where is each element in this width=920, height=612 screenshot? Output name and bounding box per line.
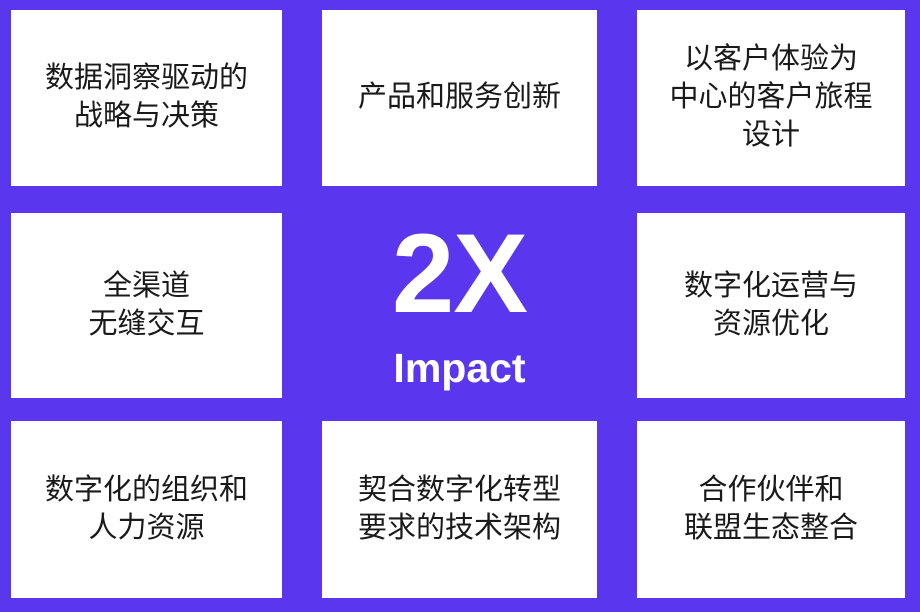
impact-grid-board: 数据洞察驱动的 战略与决策 产品和服务创新 以客户体验为 中心的客户旅程 设计 … bbox=[0, 0, 920, 612]
card-omnichannel-interaction: 全渠道 无缝交互 bbox=[11, 213, 282, 398]
card-digital-organization: 数字化的组织和 人力资源 bbox=[11, 421, 282, 598]
card-label: 全渠道 无缝交互 bbox=[82, 268, 210, 343]
impact-label: Impact bbox=[393, 348, 525, 389]
card-label: 契合数字化转型 要求的技术架构 bbox=[352, 472, 567, 547]
card-product-service-innovation: 产品和服务创新 bbox=[322, 10, 597, 186]
card-customer-journey-design: 以客户体验为 中心的客户旅程 设计 bbox=[637, 10, 905, 186]
card-partner-ecosystem: 合作伙伴和 联盟生态整合 bbox=[637, 421, 905, 598]
card-digital-operations: 数字化运营与 资源优化 bbox=[637, 213, 905, 398]
card-label: 数字化的组织和 人力资源 bbox=[39, 472, 254, 547]
card-label: 以客户体验为 中心的客户旅程 设计 bbox=[663, 41, 878, 154]
card-data-driven-strategy: 数据洞察驱动的 战略与决策 bbox=[11, 10, 282, 186]
card-label: 数字化运营与 资源优化 bbox=[678, 268, 864, 343]
card-label: 产品和服务创新 bbox=[352, 79, 567, 117]
card-label: 合作伙伴和 联盟生态整合 bbox=[678, 472, 864, 547]
card-tech-architecture: 契合数字化转型 要求的技术架构 bbox=[322, 421, 597, 598]
center-impact-highlight: 2X Impact bbox=[322, 213, 597, 398]
card-label: 数据洞察驱动的 战略与决策 bbox=[39, 60, 254, 135]
impact-multiplier-value: 2X bbox=[392, 222, 527, 325]
